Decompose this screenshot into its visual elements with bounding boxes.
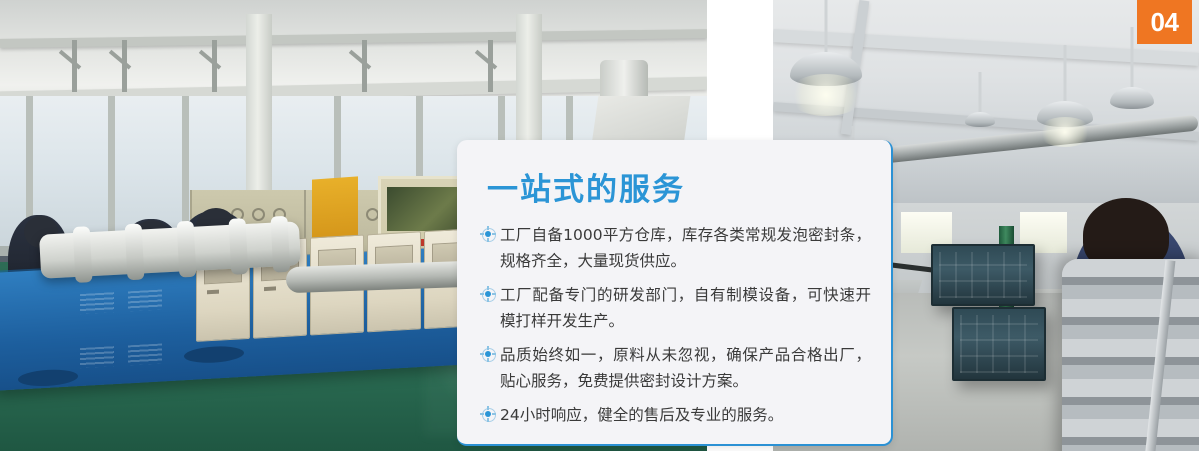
list-item: 工厂配备专门的研发部门，自有制模设备，可快速开模打样开发生产。: [481, 282, 871, 334]
list-item: 工厂自备1000平方仓库，库存各类常规发泡密封条，规格齐全，大量现货供应。: [481, 222, 871, 274]
list-item-text: 品质始终如一，原料从未忽视，确保产品合格出厂，贴心服务，免费提供密封设计方案。: [500, 342, 871, 394]
list-item-text: 工厂自备1000平方仓库，库存各类常规发泡密封条，规格齐全，大量现货供应。: [500, 222, 871, 274]
ceiling-lamp: [1037, 45, 1093, 155]
diamond-bullet-icon: [481, 227, 495, 241]
plastic-crate: [931, 244, 1035, 306]
diamond-bullet-icon: [481, 287, 495, 301]
plastic-crate: [952, 307, 1046, 381]
list-item: 品质始终如一，原料从未忽视，确保产品合格出厂，贴心服务，免费提供密封设计方案。: [481, 342, 871, 394]
diamond-bullet-icon: [481, 407, 495, 421]
step-number-text: 04: [1151, 9, 1179, 35]
service-info-card: 一站式的服务 工厂自备1000平方仓库，库存各类常规发泡密封条，规格齐全，大量现…: [457, 140, 893, 446]
list-item-text: 工厂配备专门的研发部门，自有制模设备，可快速开模打样开发生产。: [500, 282, 871, 334]
step-number-badge: 04: [1137, 0, 1192, 44]
diamond-bullet-icon: [481, 347, 495, 361]
card-title: 一站式的服务: [487, 164, 685, 209]
ceiling-lamp: [965, 72, 995, 138]
stacked-metal-coils: [1062, 259, 1199, 451]
list-item-text: 24小时响应，健全的售后及专业的服务。: [500, 402, 783, 428]
list-item: 24小时响应，健全的售后及专业的服务。: [481, 402, 871, 428]
ceiling-lamp: [790, 0, 862, 120]
card-bullet-list: 工厂自备1000平方仓库，库存各类常规发泡密封条，规格齐全，大量现货供应。 工厂…: [481, 222, 871, 436]
promo-banner: 04 一站式的服务 工厂自备1000平方仓库，库存各类常规发泡密封条，规格齐全，…: [0, 0, 1199, 451]
